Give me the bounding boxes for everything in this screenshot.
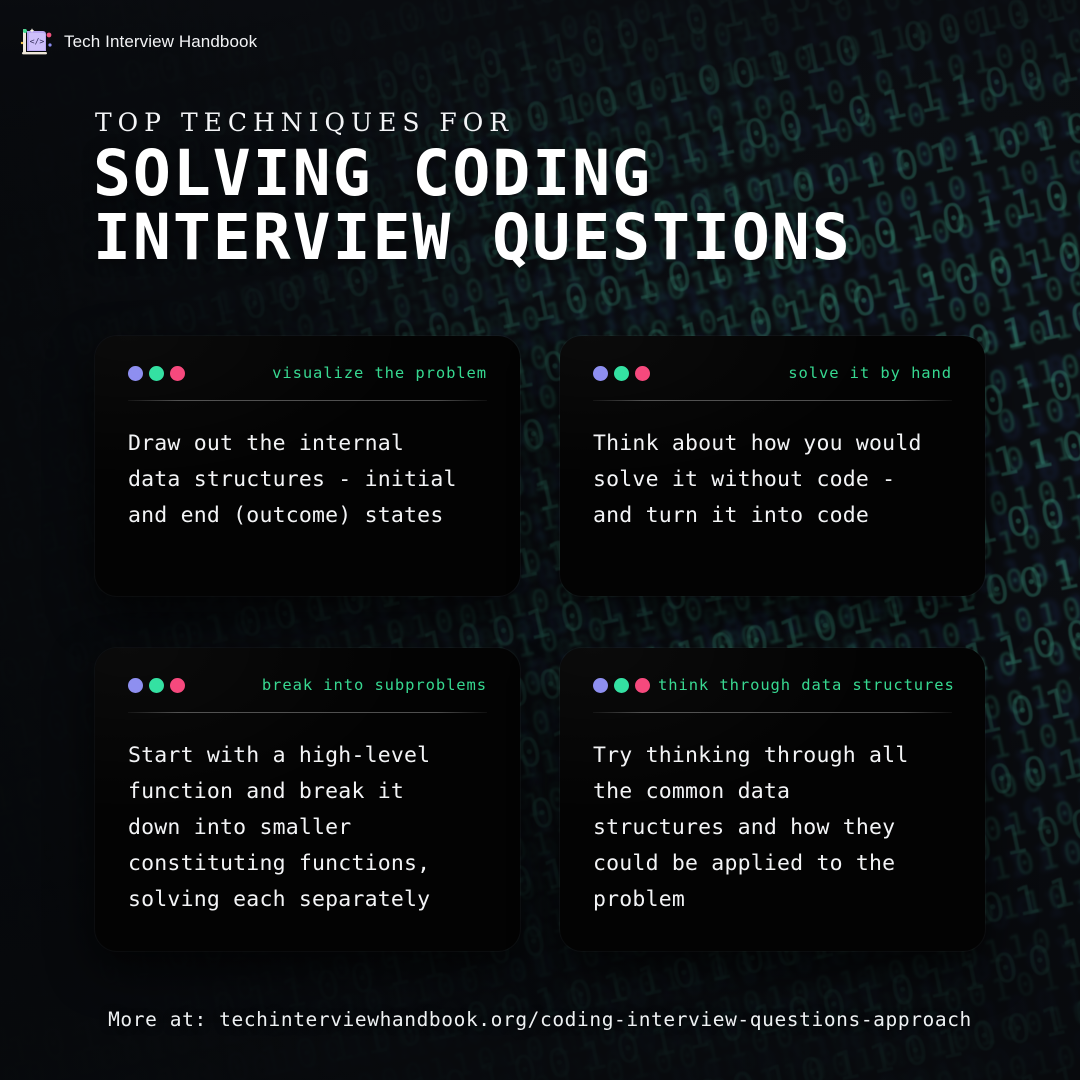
window-dots (593, 366, 650, 381)
window-dot-pink-icon (635, 366, 650, 381)
technique-card: think through data structures Try thinki… (560, 648, 985, 951)
technique-card: break into subproblems Start with a high… (95, 648, 520, 951)
window-dots (128, 678, 185, 693)
page-title: SOLVING CODING INTERVIEW QUESTIONS (93, 142, 852, 271)
card-body: Try thinking through all the common data… (593, 738, 952, 919)
window-dots (593, 678, 650, 693)
brand: </> Tech Interview Handbook (20, 26, 257, 58)
card-divider (593, 400, 952, 401)
handbook-code-icon: </> (20, 26, 54, 58)
window-dot-green-icon (614, 678, 629, 693)
window-dots (128, 366, 185, 381)
footer-link[interactable]: More at: techinterviewhandbook.org/codin… (0, 1008, 1080, 1031)
card-header: break into subproblems (128, 674, 487, 696)
headline-kicker: TOP TECHNIQUES FOR (95, 108, 514, 137)
card-body: Think about how you would solve it witho… (593, 426, 952, 534)
window-dot-green-icon (149, 366, 164, 381)
window-dot-pink-icon (635, 678, 650, 693)
card-title: visualize the problem (272, 364, 487, 382)
window-dot-purple-icon (128, 678, 143, 693)
brand-name: Tech Interview Handbook (64, 32, 257, 52)
technique-card: visualize the problem Draw out the inter… (95, 336, 520, 596)
card-title: think through data structures (658, 676, 955, 694)
card-header: solve it by hand (593, 362, 952, 384)
technique-card: solve it by hand Think about how you wou… (560, 336, 985, 596)
card-title: solve it by hand (788, 364, 952, 382)
svg-text:</>: </> (30, 37, 45, 46)
card-divider (128, 712, 487, 713)
headline-line-1: SOLVING CODING (93, 142, 852, 206)
card-body: Start with a high-level function and bre… (128, 738, 487, 919)
window-dot-pink-icon (170, 678, 185, 693)
window-dot-purple-icon (593, 366, 608, 381)
card-body: Draw out the internal data structures - … (128, 426, 487, 534)
card-divider (128, 400, 487, 401)
headline-line-2: INTERVIEW QUESTIONS (93, 206, 852, 270)
technique-card-grid: visualize the problem Draw out the inter… (95, 336, 985, 951)
card-title: break into subproblems (262, 676, 487, 694)
window-dot-green-icon (149, 678, 164, 693)
window-dot-green-icon (614, 366, 629, 381)
window-dot-pink-icon (170, 366, 185, 381)
card-divider (593, 712, 952, 713)
window-dot-purple-icon (593, 678, 608, 693)
window-dot-purple-icon (128, 366, 143, 381)
card-header: visualize the problem (128, 362, 487, 384)
card-header: think through data structures (593, 674, 952, 696)
